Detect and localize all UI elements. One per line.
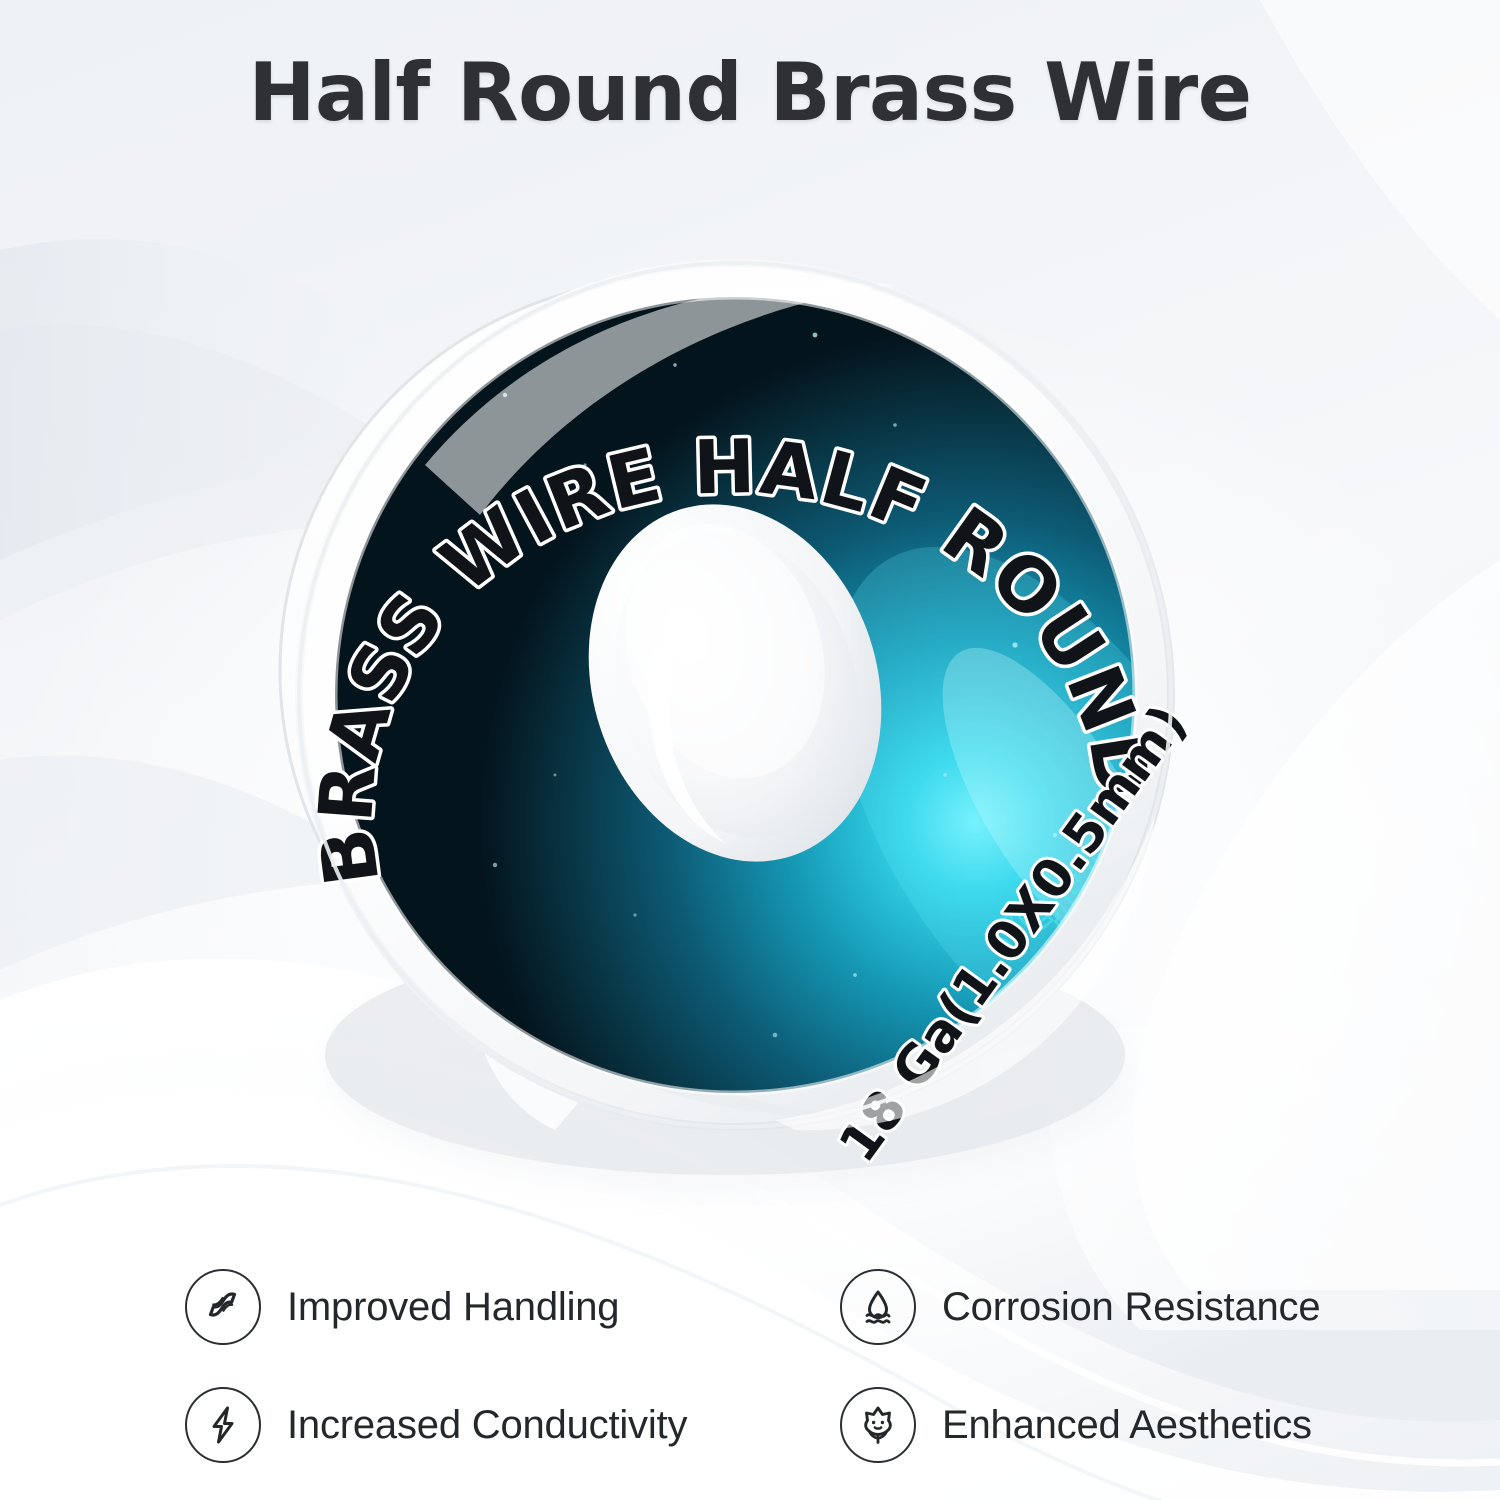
feature-list: Improved Handling Corrosion Resistance I…	[185, 1248, 1365, 1484]
feature-enhanced-aesthetics: Enhanced Aesthetics	[840, 1387, 1365, 1463]
product-spool-image: YEJET HIGH TECH BRASS WIRE HALF ROUND 18…	[255, 215, 1205, 1175]
water-drop-icon	[840, 1269, 916, 1345]
lightning-bolt-icon	[185, 1387, 261, 1463]
feature-label: Improved Handling	[287, 1285, 619, 1330]
page-title-wrap: Half Round Brass Wire	[0, 46, 1500, 139]
feature-improved-handling: Improved Handling	[185, 1269, 840, 1345]
feature-label: Enhanced Aesthetics	[942, 1403, 1312, 1448]
page-title: Half Round Brass Wire	[249, 46, 1252, 139]
feature-label: Corrosion Resistance	[942, 1285, 1320, 1330]
feature-increased-conductivity: Increased Conductivity	[185, 1387, 840, 1463]
product-infographic: Half Round Brass Wire	[0, 0, 1500, 1500]
flower-smile-icon	[840, 1387, 916, 1463]
wavy-wire-icon	[185, 1269, 261, 1345]
feature-corrosion-resistance: Corrosion Resistance	[840, 1269, 1365, 1345]
feature-label: Increased Conductivity	[287, 1403, 687, 1448]
